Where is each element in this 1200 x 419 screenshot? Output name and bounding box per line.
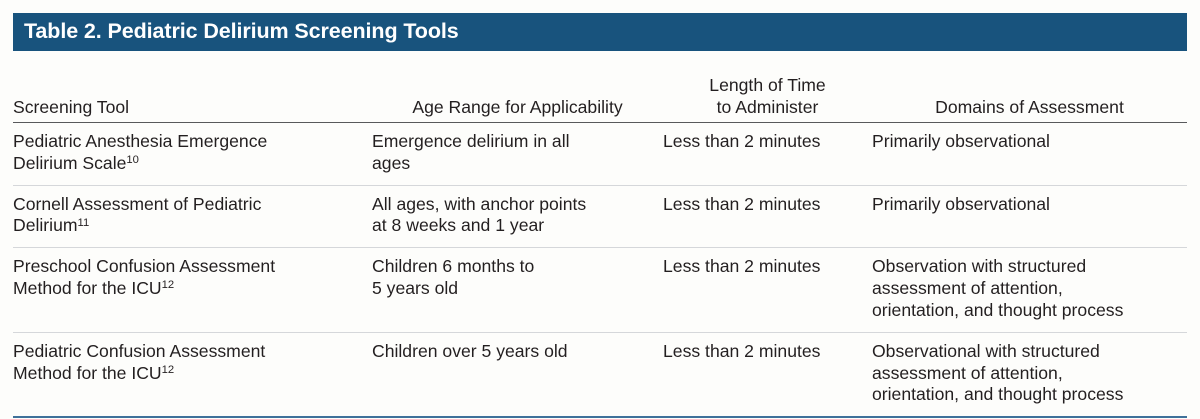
cell-length_of_time: Less than 2 minutes [663, 248, 872, 332]
table-figure: Table 2. Pediatric Delirium Screening To… [0, 0, 1200, 419]
cell-line: Emergence delirium in all [372, 131, 653, 153]
column-header-domains: Domains of Assessment [872, 57, 1187, 123]
table-header-row: Screening Tool Age Range for Applicabili… [13, 57, 1187, 123]
cell-domains: Observational with structuredassessment … [872, 332, 1187, 417]
column-header-line: Screening Tool [13, 97, 372, 118]
cell-age_range: Emergence delirium in allages [372, 123, 663, 186]
column-header-length-of-time: Length of Timeto Administer [663, 57, 872, 123]
cell-line: Pediatric Confusion Assessment [13, 341, 362, 363]
cell-length_of_time: Less than 2 minutes [663, 185, 872, 248]
cell-line: ages [372, 153, 653, 175]
cell-line: assessment of attention, [872, 278, 1177, 300]
column-header-line: Age Range for Applicability [372, 97, 663, 118]
cell-line: Children 6 months to [372, 256, 653, 278]
cell-line: Method for the ICU12 [13, 278, 362, 300]
cell-line: Delirium Scale10 [13, 153, 362, 175]
reference-superscript: 11 [78, 217, 90, 229]
cell-domains: Primarily observational [872, 185, 1187, 248]
reference-superscript: 12 [162, 279, 175, 291]
cell-line: orientation, and thought process [872, 300, 1177, 322]
cell-line: Delirium11 [13, 215, 362, 237]
cell-screening_tool: Pediatric Confusion AssessmentMethod for… [13, 332, 372, 417]
column-header-line: Domains of Assessment [872, 97, 1187, 118]
cell-line: Less than 2 minutes [663, 194, 862, 216]
cell-line: 5 years old [372, 278, 653, 300]
table-row: Pediatric Confusion AssessmentMethod for… [13, 332, 1187, 417]
cell-length_of_time: Less than 2 minutes [663, 123, 872, 186]
cell-line: Primarily observational [872, 194, 1177, 216]
cell-length_of_time: Less than 2 minutes [663, 332, 872, 417]
cell-line: at 8 weeks and 1 year [372, 215, 653, 237]
cell-line: Cornell Assessment of Pediatric [13, 194, 362, 216]
column-header-line: to Administer [663, 97, 872, 118]
cell-line: Children over 5 years old [372, 341, 653, 363]
table-row: Pediatric Anesthesia EmergenceDelirium S… [13, 123, 1187, 186]
reference-superscript: 12 [162, 364, 175, 376]
cell-screening_tool: Pediatric Anesthesia EmergenceDelirium S… [13, 123, 372, 186]
table-body: Pediatric Anesthesia EmergenceDelirium S… [13, 123, 1187, 418]
cell-line: assessment of attention, [872, 363, 1177, 385]
cell-line: Less than 2 minutes [663, 341, 862, 363]
cell-domains: Observation with structuredassessment of… [872, 248, 1187, 332]
cell-line: Method for the ICU12 [13, 363, 362, 385]
cell-screening_tool: Cornell Assessment of PediatricDelirium1… [13, 185, 372, 248]
table-title: Table 2. Pediatric Delirium Screening To… [13, 21, 459, 43]
column-header-age-range: Age Range for Applicability [372, 57, 663, 123]
cell-line: Less than 2 minutes [663, 256, 862, 278]
cell-age_range: Children 6 months to5 years old [372, 248, 663, 332]
column-header-line: Length of Time [663, 75, 872, 96]
cell-line: Observational with structured [872, 341, 1177, 363]
cell-line: Primarily observational [872, 131, 1177, 153]
cell-line: All ages, with anchor points [372, 194, 653, 216]
table-title-bar: Table 2. Pediatric Delirium Screening To… [13, 13, 1187, 51]
cell-age_range: All ages, with anchor pointsat 8 weeks a… [372, 185, 663, 248]
column-header-screening-tool: Screening Tool [13, 57, 372, 123]
table-row: Cornell Assessment of PediatricDelirium1… [13, 185, 1187, 248]
cell-age_range: Children over 5 years old [372, 332, 663, 417]
table-head: Screening Tool Age Range for Applicabili… [13, 57, 1187, 123]
table-row: Preschool Confusion AssessmentMethod for… [13, 248, 1187, 332]
cell-line: orientation, and thought process [872, 384, 1177, 406]
cell-line: Pediatric Anesthesia Emergence [13, 131, 362, 153]
cell-line: Less than 2 minutes [663, 131, 862, 153]
cell-screening_tool: Preschool Confusion AssessmentMethod for… [13, 248, 372, 332]
cell-domains: Primarily observational [872, 123, 1187, 186]
cell-line: Observation with structured [872, 256, 1177, 278]
screening-tools-table: Screening Tool Age Range for Applicabili… [13, 57, 1187, 418]
cell-line: Preschool Confusion Assessment [13, 256, 362, 278]
reference-superscript: 10 [126, 154, 139, 166]
